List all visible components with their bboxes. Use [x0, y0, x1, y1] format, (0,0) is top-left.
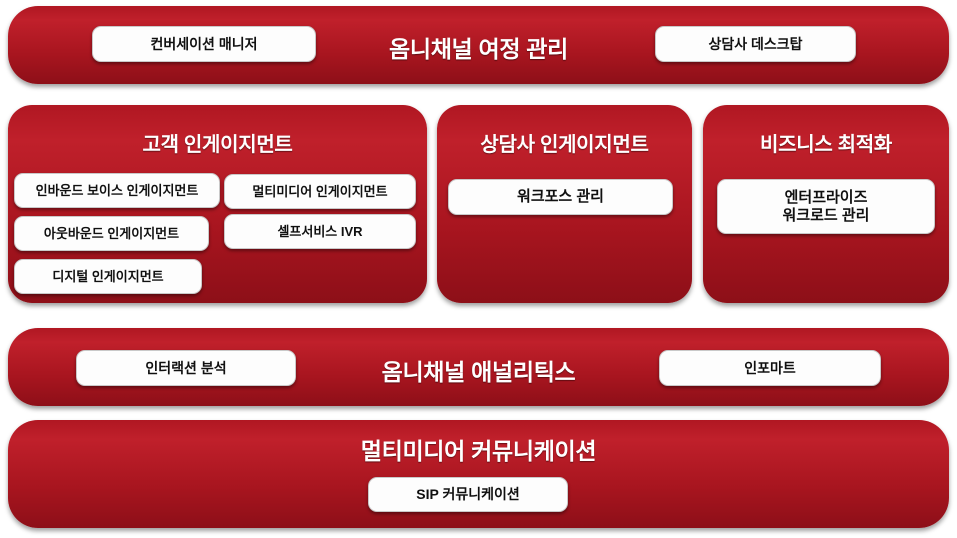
panel-business-optimization-title: 비즈니스 최적화 [703, 128, 949, 157]
chip-selfservice-ivr[interactable]: 셀프서비스 IVR [224, 214, 416, 249]
architecture-diagram: 옴니채널 여정 관리 컨버세이션 매니저 상담사 데스크탑 고객 인게이지먼트 … [0, 0, 957, 538]
chip-sip-communication[interactable]: SIP 커뮤니케이션 [368, 477, 568, 512]
chip-digital-engagement[interactable]: 디지털 인게이지먼트 [14, 259, 202, 294]
panel-customer-engagement-title: 고객 인게이지먼트 [8, 128, 427, 157]
chip-infomart[interactable]: 인포마트 [659, 350, 881, 386]
chip-enterprise-workload-line1: 엔터프라이즈 [785, 189, 868, 207]
chip-inbound-voice-engagement[interactable]: 인바운드 보이스 인게이지먼트 [14, 173, 220, 208]
chip-outbound-engagement[interactable]: 아웃바운드 인게이지먼트 [14, 216, 209, 251]
communication-band-title: 멀티미디어 커뮤니케이션 [8, 432, 949, 466]
chip-conversation-manager[interactable]: 컨버세이션 매니저 [92, 26, 316, 62]
chip-agent-desktop[interactable]: 상담사 데스크탑 [655, 26, 856, 62]
chip-workforce-management[interactable]: 워크포스 관리 [448, 179, 673, 215]
chip-enterprise-workload-management[interactable]: 엔터프라이즈 워크로드 관리 [717, 179, 935, 234]
chip-multimedia-engagement[interactable]: 멀티미디어 인게이지먼트 [224, 174, 416, 209]
panel-agent-engagement-title: 상담사 인게이지먼트 [437, 128, 692, 157]
chip-enterprise-workload-line2: 워크로드 관리 [783, 207, 870, 225]
chip-interaction-analytics[interactable]: 인터랙션 분석 [76, 350, 296, 386]
